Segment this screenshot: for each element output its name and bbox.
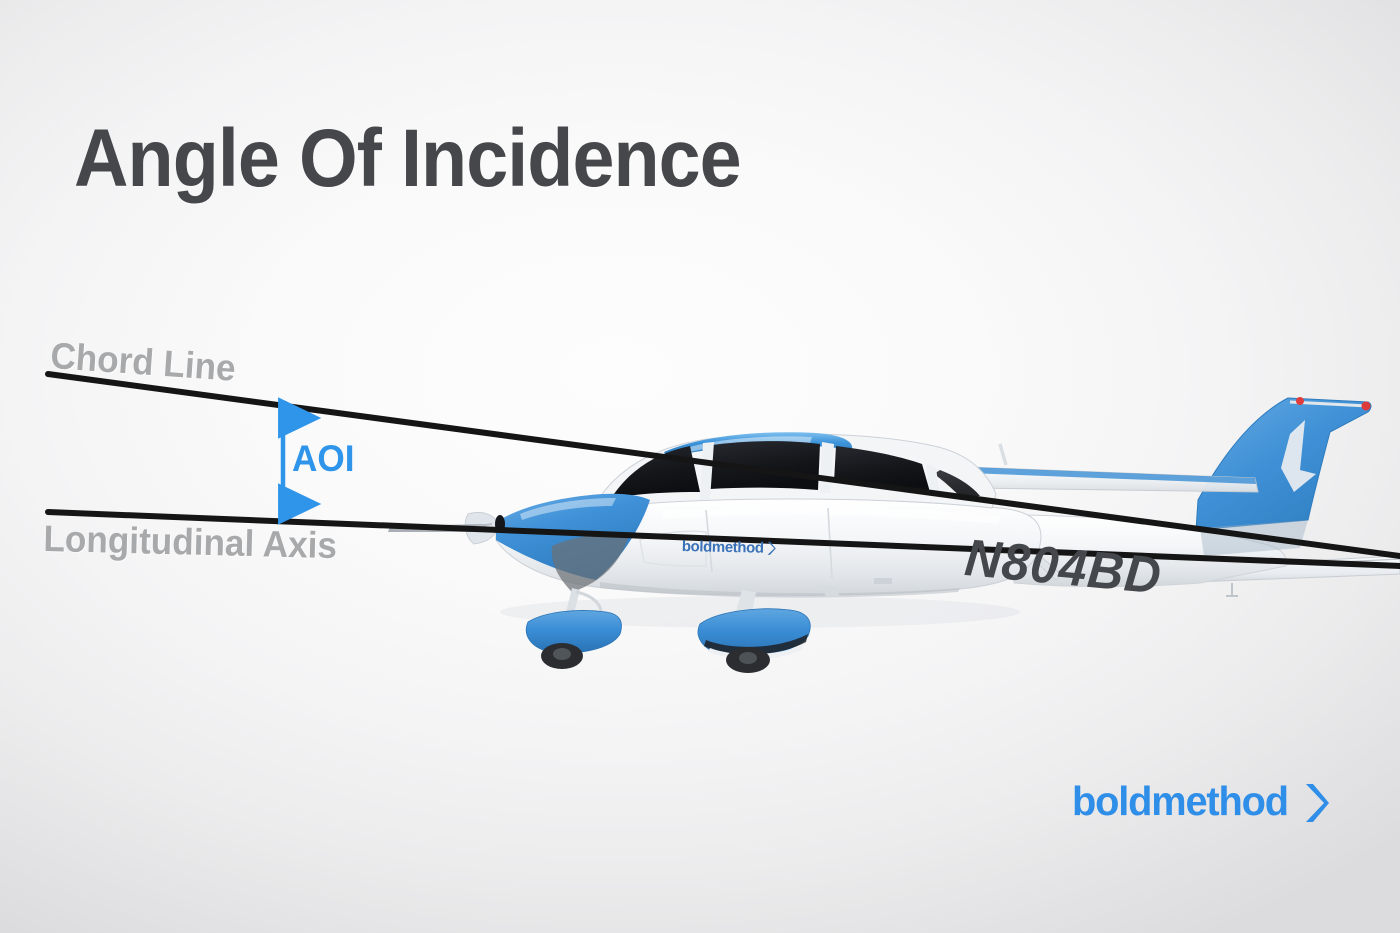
static-port (874, 578, 892, 584)
tail-tiedown (1226, 583, 1238, 596)
fuselage-boldmethod-decal: boldmethod (682, 538, 776, 557)
boldmethod-logo[interactable]: boldmethod (1072, 778, 1330, 825)
boldmethod-logo-text: boldmethod (1072, 778, 1288, 825)
tail-nav-light (1362, 402, 1371, 411)
beacon-light (1296, 397, 1304, 405)
illustration-canvas: Angle Of Incidence (0, 0, 1400, 933)
nose-hub (553, 648, 571, 660)
chevron-right-icon (1304, 782, 1330, 824)
fuselage-decal-chevron-right-icon (766, 541, 775, 556)
main-hub (739, 652, 757, 664)
longitudinal-axis-label: Longitudinal Axis (43, 518, 338, 567)
wing-antenna (1000, 444, 1006, 465)
fuselage-decal-text: boldmethod (682, 538, 764, 557)
aoi-label: AOI (292, 438, 354, 480)
